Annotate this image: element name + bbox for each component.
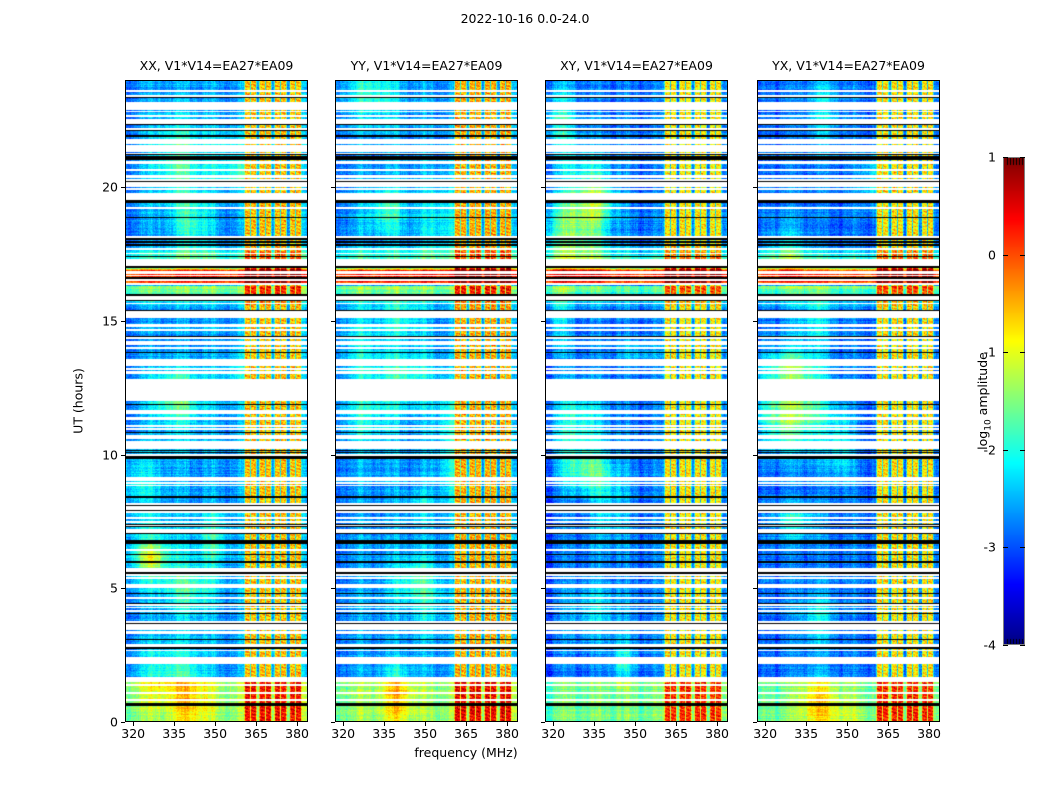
panel-title-xx: XX, V1*V14=EA27*EA09 — [140, 58, 294, 73]
heatmap-xy[interactable] — [545, 80, 728, 722]
colorbar-tick-mark — [1020, 450, 1025, 451]
colorbar-tick-mark — [1003, 645, 1008, 646]
y-tick-mark — [753, 588, 757, 589]
heatmap-yx[interactable] — [757, 80, 940, 722]
colorbar-label: log10 amplitude — [975, 352, 994, 450]
colorbar-tick-mark — [1003, 547, 1008, 548]
colorbar-tick-label: -3 — [984, 540, 996, 555]
panel-yx[interactable]: YX, V1*V14=EA27*EA09 320335350365380 — [757, 80, 940, 722]
y-tick-mark — [753, 455, 757, 456]
y-tick-mark — [331, 588, 335, 589]
y-tick-mark — [331, 321, 335, 322]
y-tick-mark — [121, 722, 125, 723]
x-tick-label: 365 — [664, 726, 688, 741]
y-tick-mark — [541, 455, 545, 456]
colorbar-tick-mark — [1020, 157, 1025, 158]
colorbar-gradient — [1003, 157, 1025, 645]
y-tick-mark — [541, 588, 545, 589]
y-tick-mark — [121, 321, 125, 322]
figure-canvas: 2022-10-16 0.0-24.0 XX, V1*V14=EA27*EA09… — [0, 0, 1050, 800]
x-tick-label: 335 — [372, 726, 396, 741]
spectrogram-image-xy — [546, 81, 728, 722]
y-tick-mark — [121, 455, 125, 456]
x-tick-label: 380 — [285, 726, 309, 741]
y-tick-mark — [541, 187, 545, 188]
heatmap-xx[interactable] — [125, 80, 308, 722]
panel-xy[interactable]: XY, V1*V14=EA27*EA09 320335350365380 — [545, 80, 728, 722]
colorbar-tick-mark — [1003, 450, 1008, 451]
panel-title-yx: YX, V1*V14=EA27*EA09 — [772, 58, 925, 73]
y-tick-mark — [331, 187, 335, 188]
figure-suptitle: 2022-10-16 0.0-24.0 — [0, 11, 1050, 26]
x-tick-label: 350 — [835, 726, 859, 741]
panel-yy[interactable]: YY, V1*V14=EA27*EA09 320335350365380 — [335, 80, 518, 722]
x-tick-label: 350 — [623, 726, 647, 741]
panel-title-xy: XY, V1*V14=EA27*EA09 — [560, 58, 713, 73]
y-axis-label: UT (hours) — [71, 368, 86, 434]
y-tick-mark — [753, 321, 757, 322]
y-tick-mark — [121, 187, 125, 188]
y-tick-mark — [541, 321, 545, 322]
panel-xx[interactable]: XX, V1*V14=EA27*EA09 3203353503653800510… — [125, 80, 308, 722]
x-tick-label: 350 — [413, 726, 437, 741]
x-tick-label: 350 — [203, 726, 227, 741]
x-tick-label: 320 — [541, 726, 565, 741]
x-tick-label: 380 — [705, 726, 729, 741]
colorbar-image — [1004, 158, 1025, 645]
colorbar-tick-mark — [1020, 255, 1025, 256]
panel-title-yy: YY, V1*V14=EA27*EA09 — [351, 58, 503, 73]
y-tick-label: 20 — [102, 180, 118, 195]
x-tick-label: 335 — [582, 726, 606, 741]
x-tick-label: 365 — [244, 726, 268, 741]
colorbar-tick-mark — [1020, 645, 1025, 646]
heatmap-yy[interactable] — [335, 80, 518, 722]
y-tick-label: 0 — [110, 715, 118, 730]
x-tick-label: 320 — [753, 726, 777, 741]
colorbar[interactable]: 10-1-2-3-4 — [1003, 157, 1025, 645]
colorbar-tick-label: 1 — [988, 150, 996, 165]
y-tick-mark — [331, 455, 335, 456]
colorbar-tick-mark — [1003, 255, 1008, 256]
x-tick-label: 380 — [917, 726, 941, 741]
x-tick-label: 380 — [495, 726, 519, 741]
y-tick-mark — [541, 722, 545, 723]
y-tick-label: 10 — [102, 447, 118, 462]
y-tick-label: 5 — [110, 581, 118, 596]
x-tick-label: 335 — [794, 726, 818, 741]
y-tick-label: 15 — [102, 313, 118, 328]
y-tick-mark — [121, 588, 125, 589]
colorbar-tick-mark — [1003, 352, 1008, 353]
x-axis-label: frequency (MHz) — [0, 745, 1050, 760]
x-tick-label: 335 — [162, 726, 186, 741]
spectrogram-image-yx — [758, 81, 940, 722]
y-tick-mark — [753, 722, 757, 723]
colorbar-tick-label: 0 — [988, 247, 996, 262]
spectrogram-image-xx — [126, 81, 308, 722]
colorbar-tick-mark — [1020, 547, 1025, 548]
colorbar-tick-mark — [1020, 352, 1025, 353]
y-tick-mark — [331, 722, 335, 723]
x-tick-label: 320 — [331, 726, 355, 741]
spectrogram-image-yy — [336, 81, 518, 722]
x-tick-label: 320 — [121, 726, 145, 741]
x-tick-label: 365 — [876, 726, 900, 741]
y-tick-mark — [753, 187, 757, 188]
x-tick-label: 365 — [454, 726, 478, 741]
colorbar-tick-mark — [1003, 157, 1008, 158]
colorbar-tick-label: -4 — [984, 638, 996, 653]
